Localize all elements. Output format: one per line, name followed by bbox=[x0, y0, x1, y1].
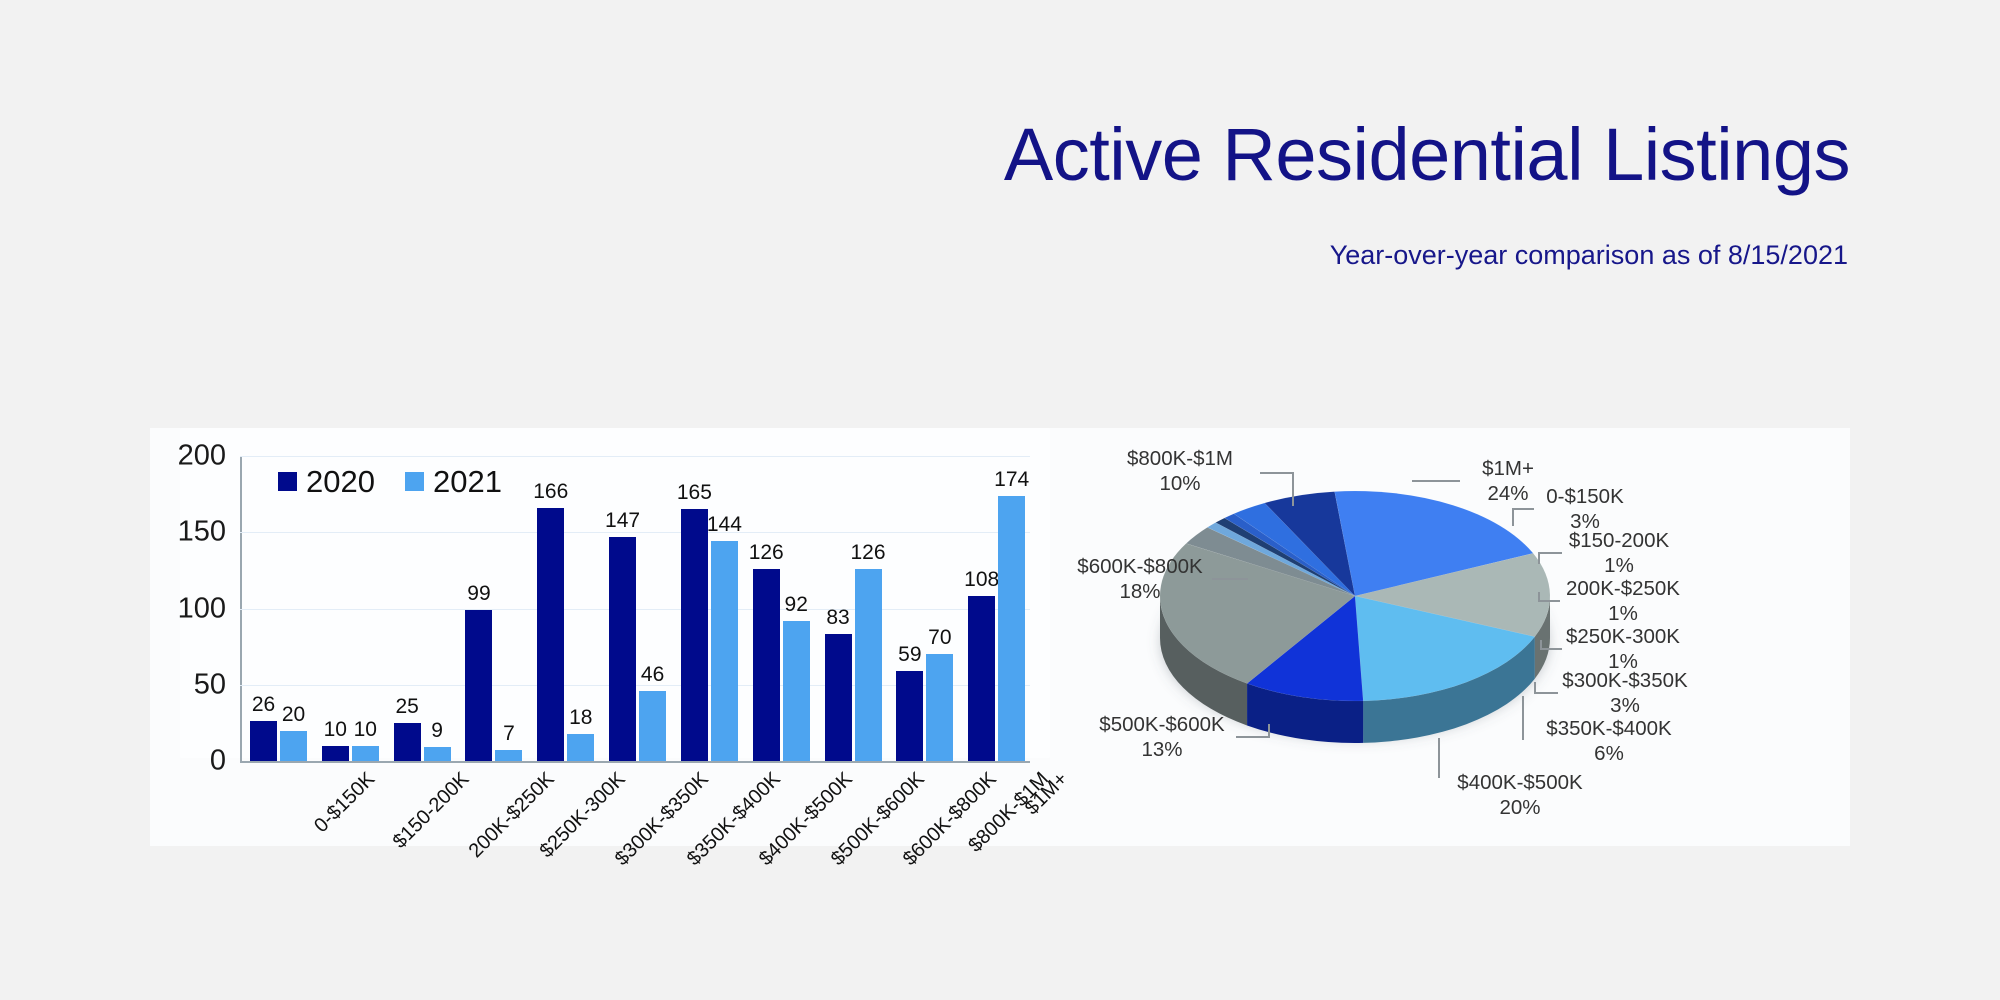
bar-group: 259 bbox=[390, 456, 462, 761]
bar-value-label: 147 bbox=[605, 509, 640, 533]
pie-label-name: $350K-$400K bbox=[1546, 717, 1671, 740]
bar-group: 5970 bbox=[892, 456, 964, 761]
bar-2021[interactable]: 174 bbox=[998, 496, 1025, 761]
bar-value-label: 7 bbox=[503, 722, 515, 746]
pie-label-$300K-$350K: $300K-$350K3% bbox=[1556, 668, 1694, 718]
pie-label-name: $500K-$600K bbox=[1099, 713, 1224, 736]
pie-label-value: 20% bbox=[1499, 796, 1540, 819]
legend-item-2020[interactable]: 2020 bbox=[278, 466, 375, 497]
y-axis-tick-label: 150 bbox=[178, 516, 226, 549]
x-axis-tick-label: $150-200K bbox=[388, 768, 473, 853]
bar-2021[interactable]: 70 bbox=[926, 654, 953, 761]
bar-value-label: 59 bbox=[898, 643, 921, 667]
bar-2021[interactable]: 126 bbox=[855, 569, 882, 761]
charts-panel: 050100150200 262010102599971661814746165… bbox=[150, 428, 1850, 846]
bar-value-label: 92 bbox=[785, 593, 808, 617]
bar-2021[interactable]: 46 bbox=[639, 691, 666, 761]
bar-group: 2620 bbox=[246, 456, 318, 761]
pie-leader-line bbox=[1236, 736, 1270, 738]
bar-value-label: 46 bbox=[641, 663, 664, 687]
bar-value-label: 126 bbox=[851, 541, 886, 565]
pie-label-0-$150K: 0-$150K3% bbox=[1530, 484, 1640, 534]
pie-leader-line bbox=[1292, 472, 1294, 506]
pie-leader-line bbox=[1534, 692, 1558, 694]
pie-leader-line bbox=[1540, 648, 1562, 650]
bar-2020[interactable]: 165 bbox=[681, 509, 708, 761]
pie-label-$250K-300K: $250K-300K1% bbox=[1560, 624, 1686, 674]
bar-chart: 050100150200 262010102599971661814746165… bbox=[150, 428, 1060, 846]
pie-label-name: $800K-$1M bbox=[1127, 447, 1233, 470]
bar-group: 108174 bbox=[964, 456, 1036, 761]
bar-2020[interactable]: 59 bbox=[896, 671, 923, 761]
pie-leader-line bbox=[1522, 696, 1524, 740]
x-axis-line bbox=[240, 761, 1030, 763]
pie-label-$800K-$1M: $800K-$1M10% bbox=[1105, 446, 1255, 496]
pie-leader-line bbox=[1212, 578, 1248, 580]
bar-2020[interactable]: 25 bbox=[394, 723, 421, 761]
bar-value-label: 10 bbox=[354, 718, 377, 742]
bar-group: 1010 bbox=[318, 456, 390, 761]
bar-2021[interactable]: 10 bbox=[352, 746, 379, 761]
bar-group: 12692 bbox=[749, 456, 821, 761]
pie-label-name: $400K-$500K bbox=[1457, 771, 1582, 794]
legend-label-2021: 2021 bbox=[433, 466, 502, 497]
bar-2020[interactable]: 99 bbox=[465, 610, 492, 761]
pie-label-$150-200K: $150-200K1% bbox=[1560, 528, 1678, 578]
bar-2021[interactable]: 9 bbox=[424, 747, 451, 761]
y-axis-tick-label: 100 bbox=[178, 592, 226, 625]
pie-leader-line bbox=[1512, 508, 1534, 510]
bar-value-label: 108 bbox=[964, 568, 999, 592]
legend-item-2021[interactable]: 2021 bbox=[405, 466, 502, 497]
pie-label-value: 18% bbox=[1119, 580, 1160, 603]
pie-label-name: $600K-$800K bbox=[1077, 555, 1202, 578]
page-title: Active Residential Listings bbox=[1004, 118, 1850, 192]
bar-value-label: 10 bbox=[324, 718, 347, 742]
pie-label-name: $300K-$350K bbox=[1562, 669, 1687, 692]
bar-value-label: 83 bbox=[826, 606, 849, 630]
pie-top-faces bbox=[1160, 491, 1550, 701]
bar-group: 997 bbox=[461, 456, 533, 761]
pie-label-value: 6% bbox=[1594, 742, 1624, 765]
pie-leader-line bbox=[1538, 552, 1540, 564]
bar-group: 14746 bbox=[605, 456, 677, 761]
bar-2020[interactable]: 26 bbox=[250, 721, 277, 761]
pie-label-name: 0-$150K bbox=[1546, 485, 1624, 508]
pie-label-value: 3% bbox=[1610, 694, 1640, 717]
pie-label-$600K-$800K: $600K-$800K18% bbox=[1070, 554, 1210, 604]
pie-leader-line bbox=[1534, 682, 1536, 694]
bar-value-label: 18 bbox=[569, 706, 592, 730]
bar-value-label: 26 bbox=[252, 693, 275, 717]
bar-2021[interactable]: 20 bbox=[280, 731, 307, 762]
bar-value-label: 20 bbox=[282, 703, 305, 727]
x-axis-tick-label: 0-$150K bbox=[310, 768, 380, 838]
pie-leader-line bbox=[1538, 600, 1560, 602]
page-subtitle: Year-over-year comparison as of 8/15/202… bbox=[1330, 240, 1848, 271]
bar-2021[interactable]: 144 bbox=[711, 541, 738, 761]
pie-label-name: $1M+ bbox=[1482, 457, 1534, 480]
pie-label-name: $150-200K bbox=[1569, 529, 1669, 552]
pie-label-$500K-$600K: $500K-$600K13% bbox=[1092, 712, 1232, 762]
pie-leader-line bbox=[1538, 592, 1540, 602]
pie-leader-line bbox=[1438, 738, 1440, 778]
bar-group: 16618 bbox=[533, 456, 605, 761]
pie-label-name: 200K-$250K bbox=[1566, 577, 1680, 600]
legend-swatch-2021 bbox=[405, 472, 424, 491]
bar-value-label: 166 bbox=[533, 480, 568, 504]
bar-value-label: 9 bbox=[431, 719, 443, 743]
bar-2020[interactable]: 166 bbox=[537, 508, 564, 761]
pie-label-$350K-$400K: $350K-$400K6% bbox=[1540, 716, 1678, 766]
pie-chart: $800K-$1M10%$1M+24%0-$150K3%$150-200K1%2… bbox=[1060, 428, 1850, 846]
bar-2021[interactable]: 92 bbox=[783, 621, 810, 761]
bar-2020[interactable]: 147 bbox=[609, 537, 636, 761]
bar-2021[interactable]: 7 bbox=[495, 750, 522, 761]
page-header: Active Residential Listings Year-over-ye… bbox=[0, 0, 2000, 300]
y-axis-tick-label: 200 bbox=[178, 440, 226, 473]
bar-value-label: 70 bbox=[928, 626, 951, 650]
bar-2020[interactable]: 108 bbox=[968, 596, 995, 761]
pie-label-200K-$250K: 200K-$250K1% bbox=[1558, 576, 1688, 626]
pie-label-$400K-$500K: $400K-$500K20% bbox=[1450, 770, 1590, 820]
pie-label-value: 10% bbox=[1159, 472, 1200, 495]
pie-leader-line bbox=[1512, 508, 1514, 526]
pie-leader-line bbox=[1540, 640, 1542, 650]
pie-leader-line bbox=[1268, 724, 1270, 738]
bar-value-label: 99 bbox=[467, 582, 490, 606]
bar-2020[interactable]: 126 bbox=[753, 569, 780, 761]
bar-chart-axes: 050100150200 262010102599971661814746165… bbox=[240, 456, 1030, 761]
y-axis-tick-label: 50 bbox=[194, 668, 226, 701]
pie-label-value: 1% bbox=[1604, 554, 1634, 577]
bar-group: 165144 bbox=[677, 456, 749, 761]
bar-2020[interactable]: 83 bbox=[825, 634, 852, 761]
bar-2020[interactable]: 10 bbox=[322, 746, 349, 761]
pie-leader-line bbox=[1260, 472, 1294, 474]
bar-value-label: 126 bbox=[749, 541, 784, 565]
bar-chart-legend: 2020 2021 bbox=[278, 466, 502, 497]
pie-leader-line bbox=[1412, 480, 1460, 482]
y-axis-tick-label: 0 bbox=[210, 745, 226, 778]
pie-label-value: 24% bbox=[1487, 482, 1528, 505]
pie-leader-line bbox=[1538, 552, 1562, 554]
bar-value-label: 25 bbox=[395, 695, 418, 719]
bar-2021[interactable]: 18 bbox=[567, 734, 594, 761]
pie-label-name: $250K-300K bbox=[1566, 625, 1680, 648]
bar-value-label: 165 bbox=[677, 481, 712, 505]
bar-group: 83126 bbox=[821, 456, 893, 761]
pie-label-value: 13% bbox=[1141, 738, 1182, 761]
pie-label-value: 1% bbox=[1608, 602, 1638, 625]
legend-swatch-2020 bbox=[278, 472, 297, 491]
legend-label-2020: 2020 bbox=[306, 466, 375, 497]
bar-value-label: 144 bbox=[707, 513, 742, 537]
bar-value-label: 174 bbox=[994, 468, 1029, 492]
